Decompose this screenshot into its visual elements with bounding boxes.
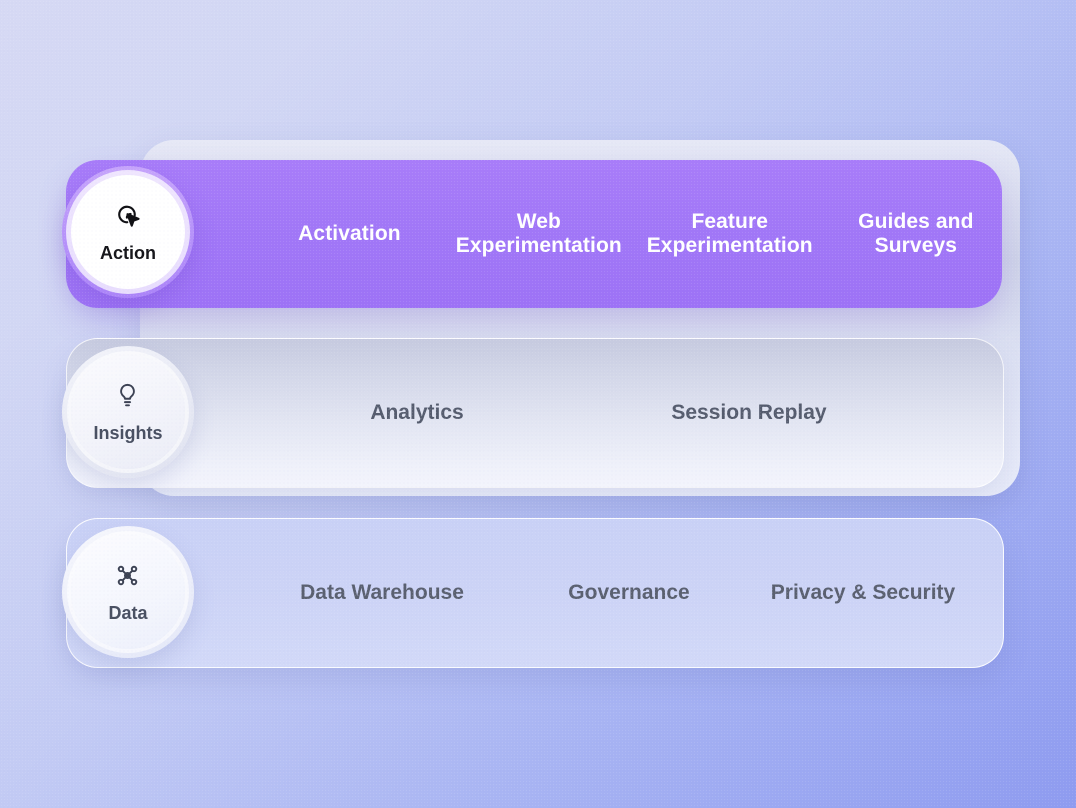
badge-content-data: Data — [108, 561, 147, 624]
tier-badge-data[interactable]: Data — [62, 526, 194, 658]
tier-row-action[interactable]: Activation Web Experimentation Feature E… — [66, 160, 1002, 308]
badge-content-action: Action — [100, 200, 156, 264]
tier-item-feature-experimentation[interactable]: Feature Experimentation — [640, 210, 820, 259]
architecture-diagram: Activation Web Experimentation Feature E… — [0, 0, 1076, 808]
tier-item-guides-and-surveys[interactable]: Guides and Surveys — [830, 210, 1002, 259]
cursor-click-icon — [113, 200, 143, 235]
tier-items-data: Data Warehouse Governance Privacy & Secu… — [67, 581, 1003, 605]
tier-item-session-replay[interactable]: Session Replay — [639, 401, 859, 425]
tier-item-data-warehouse[interactable]: Data Warehouse — [267, 581, 497, 605]
tier-badge-label-data: Data — [108, 603, 147, 624]
network-hub-icon — [113, 561, 142, 595]
tier-items-insights: Analytics Session Replay — [67, 401, 1003, 425]
tier-badge-label-action: Action — [100, 243, 156, 264]
tier-item-analytics[interactable]: Analytics — [317, 401, 517, 425]
tier-items-action: Activation Web Experimentation Feature E… — [66, 210, 1002, 259]
tier-item-privacy-and-security[interactable]: Privacy & Security — [753, 581, 973, 605]
tier-row-insights[interactable]: Analytics Session Replay — [66, 338, 1004, 488]
tier-row-data[interactable]: Data Warehouse Governance Privacy & Secu… — [66, 518, 1004, 668]
tier-badge-action[interactable]: Action — [62, 166, 194, 298]
lightbulb-icon — [113, 381, 142, 415]
badge-content-insights: Insights — [93, 381, 162, 444]
tier-item-activation[interactable]: Activation — [268, 222, 431, 246]
tier-item-governance[interactable]: Governance — [539, 581, 719, 605]
tier-item-web-experimentation[interactable]: Web Experimentation — [449, 210, 629, 259]
tier-badge-insights[interactable]: Insights — [62, 346, 194, 478]
tier-badge-label-insights: Insights — [93, 423, 162, 444]
